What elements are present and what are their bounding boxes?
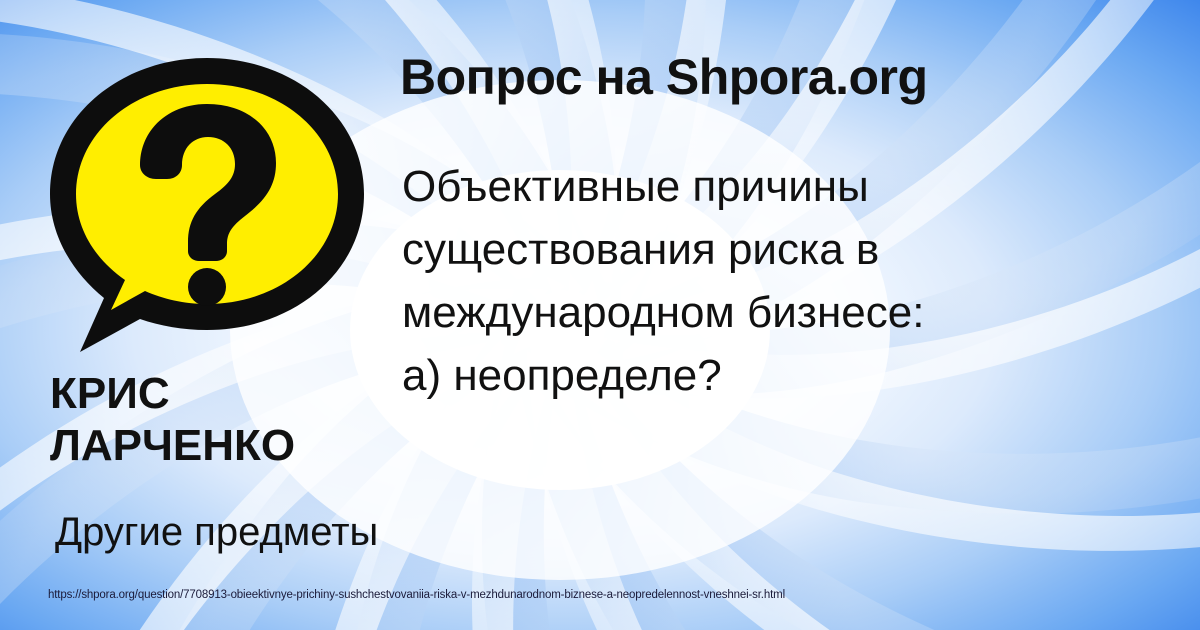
- question-speech-bubble-icon: [42, 52, 372, 364]
- question-share-card: Вопрос на Shpora.org Объективные причины…: [0, 0, 1200, 630]
- question-text: Объективные причины существования риска …: [402, 156, 924, 408]
- subject-label: Другие предметы: [55, 508, 378, 556]
- page-title: Вопрос на Shpora.org: [400, 48, 928, 107]
- source-url[interactable]: https://shpora.org/question/7708913-obie…: [48, 589, 785, 601]
- author-name: КРИС ЛАРЧЕНКО: [50, 368, 295, 472]
- speech-bubble-svg: [42, 52, 372, 364]
